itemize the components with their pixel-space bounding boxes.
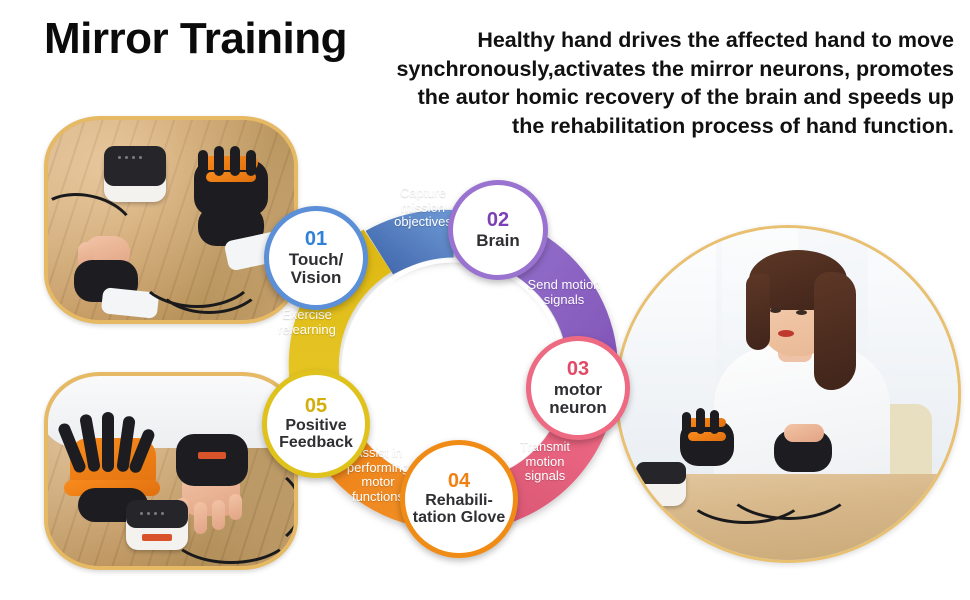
node-03-label: motor neuron bbox=[531, 381, 625, 417]
node-03-motor-neuron[interactable]: 03 motor neuron bbox=[526, 336, 630, 440]
node-05-positive-feedback[interactable]: 05 Positive Feedback bbox=[262, 370, 370, 478]
node-02-brain[interactable]: 02 Brain bbox=[448, 180, 548, 280]
cycle-diagram: Capture mission objectives Send motion s… bbox=[252, 168, 656, 572]
node-04-rehabilitation-glove[interactable]: 04 Rehabili- tation Glove bbox=[400, 440, 518, 558]
description-paragraph: Healthy hand drives the affected hand to… bbox=[380, 26, 954, 140]
node-05-label: Positive Feedback bbox=[267, 418, 365, 452]
node-04-number: 04 bbox=[448, 471, 470, 492]
node-03-number: 03 bbox=[567, 359, 589, 380]
node-05-number: 05 bbox=[305, 396, 327, 417]
node-02-label: Brain bbox=[476, 232, 519, 250]
node-01-number: 01 bbox=[305, 229, 327, 250]
node-02-number: 02 bbox=[487, 210, 509, 231]
photo-woman-using-glove bbox=[615, 225, 961, 563]
node-04-label: Rehabili- tation Glove bbox=[405, 493, 513, 527]
node-01-label: Touch/ Vision bbox=[269, 251, 363, 287]
infographic-canvas: Mirror Training Healthy hand drives the … bbox=[0, 0, 970, 600]
page-title: Mirror Training bbox=[44, 14, 347, 64]
node-01-touch-vision[interactable]: 01 Touch/ Vision bbox=[264, 206, 368, 310]
